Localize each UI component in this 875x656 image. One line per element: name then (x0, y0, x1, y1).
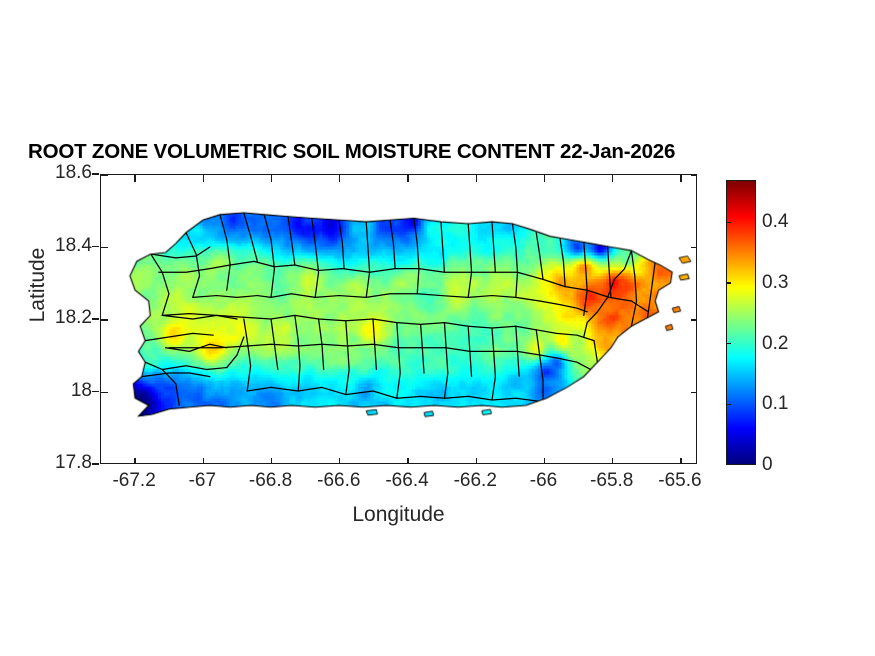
x-tick-label: -65.8 (590, 470, 633, 492)
x-tick-mark (134, 458, 135, 464)
municipality-boundary (591, 369, 649, 383)
colorbar-gradient (727, 181, 755, 464)
x-tick-mark (612, 175, 613, 182)
y-tick-mark (92, 246, 99, 247)
municipality-boundary (339, 220, 344, 269)
municipality-boundary (186, 233, 200, 298)
municipality-boundary (468, 396, 543, 401)
municipality-boundary (162, 366, 227, 370)
y-tick-mark (92, 318, 99, 319)
municipality-boundary (584, 242, 587, 316)
x-tick-label: -66.2 (454, 470, 497, 492)
municipality-boundary (540, 355, 591, 369)
x-tick-label: -66 (530, 470, 557, 492)
municipality-boundary (421, 324, 424, 373)
municipality-boundary (536, 233, 543, 280)
x-tick-mark (407, 458, 408, 464)
municipality-boundary (608, 251, 632, 298)
y-tick-mark-inner (101, 392, 108, 393)
municipality-boundary (159, 265, 230, 272)
municipality-boundary (227, 337, 244, 368)
x-tick-mark (203, 458, 204, 464)
x-tick-labels: -67.2-67-66.8-66.6-66.4-66.2-66-65.8-65.… (100, 470, 697, 496)
x-tick-mark (203, 175, 204, 182)
municipality-boundary (370, 269, 445, 273)
x-tick-label: -65.6 (658, 470, 701, 492)
municipality-boundary (390, 220, 395, 269)
municipality-boundary (492, 222, 495, 272)
municipality-boundary (512, 224, 517, 298)
municipality-boundary (322, 344, 399, 348)
x-tick-mark (476, 458, 477, 464)
municipality-boundary (366, 222, 369, 298)
municipality-boundary (638, 312, 648, 377)
municipality-boundary (492, 328, 495, 400)
municipality-boundary (631, 251, 636, 327)
x-tick-mark (680, 458, 681, 464)
municipality-boundary (414, 218, 419, 294)
colorbar-tick-mark (726, 343, 731, 344)
x-tick-mark (544, 458, 545, 464)
municipality-boundary (295, 315, 300, 391)
municipality-boundary (244, 213, 258, 262)
municipality-boundary (468, 224, 471, 298)
x-tick-mark (612, 458, 613, 464)
colorbar-tick-label: 0.2 (762, 333, 788, 355)
municipality-boundary (145, 333, 213, 340)
x-tick-label: -67 (189, 470, 216, 492)
x-tick-mark (680, 175, 681, 182)
colorbar-tick-labels: 00.10.20.30.4 (762, 180, 822, 465)
colorbar-tick-label: 0.4 (762, 211, 788, 233)
y-tick-mark-inner (101, 319, 108, 320)
x-tick-label: -66.4 (385, 470, 428, 492)
municipality-boundary (230, 261, 295, 266)
y-axis-label: Latitude (26, 225, 50, 345)
colorbar-tick-mark (726, 404, 731, 405)
y-tick-label: 18 (71, 380, 92, 402)
municipality-boundary (220, 215, 230, 291)
municipality-boundary (444, 323, 447, 399)
municipality-boundary (390, 294, 468, 298)
municipality-boundary (618, 337, 625, 380)
map-axes[interactable] (100, 174, 697, 464)
municipality-boundary (169, 346, 247, 348)
colorbar-tick-label: 0.3 (762, 272, 788, 294)
municipality-boundary (540, 301, 588, 312)
municipality-boundary (560, 238, 565, 287)
colorbar-tick-mark (726, 222, 731, 223)
municipality-boundary (244, 319, 251, 391)
y-tick-mark-inner (691, 319, 697, 320)
municipality-boundary (315, 294, 390, 298)
figure-canvas: ROOT ZONE VOLUMETRIC SOIL MOISTURE CONTE… (0, 0, 875, 656)
municipality-boundary (312, 218, 319, 297)
x-tick-mark (339, 175, 340, 182)
municipality-boundary (244, 315, 319, 319)
colorbar-tick-mark (726, 282, 731, 283)
x-axis-label: Longitude (100, 503, 697, 527)
municipality-boundary (152, 247, 210, 258)
municipality-boundary (346, 321, 349, 395)
municipality-boundary (518, 272, 588, 290)
municipality-boundary (397, 323, 468, 327)
municipality-boundary (149, 251, 169, 316)
page-title: ROOT ZONE VOLUMETRIC SOIL MOISTURE CONTE… (28, 140, 675, 164)
municipality-boundary (142, 373, 210, 377)
municipality-boundary (399, 348, 470, 352)
y-tick-label: 18.6 (55, 162, 92, 184)
municipality-boundary (257, 294, 315, 298)
x-tick-mark (134, 175, 135, 182)
y-tick-mark-inner (691, 392, 697, 393)
x-tick-mark (476, 175, 477, 182)
municipality-boundary (397, 323, 400, 399)
x-tick-label: -67.2 (112, 470, 155, 492)
y-tick-label: 17.8 (55, 452, 92, 474)
municipality-boundary (264, 215, 274, 298)
y-tick-label: 18.4 (55, 235, 92, 257)
municipality-boundary (584, 297, 608, 337)
y-tick-mark (92, 173, 99, 174)
x-tick-label: -66.6 (317, 470, 360, 492)
y-tick-mark-inner (101, 174, 108, 175)
x-tick-label: -66.8 (249, 470, 292, 492)
municipality-boundary (594, 341, 601, 384)
y-tick-mark (92, 391, 99, 392)
colorbar-tick-label: 0.1 (762, 393, 788, 415)
municipality-boundary (193, 296, 258, 298)
municipality-boundary (468, 296, 539, 301)
municipality-boundary (319, 319, 397, 323)
x-tick-mark (544, 175, 545, 182)
municipality-boundary (322, 387, 397, 398)
x-tick-mark (407, 175, 408, 182)
x-tick-mark (271, 458, 272, 464)
y-tick-mark-inner (691, 247, 697, 248)
municipality-boundary (648, 261, 655, 311)
municipality-boundary (470, 351, 540, 355)
municipality-boundary (587, 290, 648, 312)
municipality-boundary (397, 396, 468, 398)
municipality-boundaries-overlay (101, 175, 696, 463)
y-tick-label: 18.2 (55, 307, 92, 329)
y-tick-mark-inner (101, 247, 108, 248)
colorbar-tick-label: 0 (762, 454, 773, 476)
municipality-boundary (288, 216, 295, 265)
x-tick-mark (271, 175, 272, 182)
x-tick-mark (339, 458, 340, 464)
y-tick-mark (92, 463, 99, 464)
y-tick-mark-inner (691, 174, 697, 175)
municipality-boundary (247, 387, 322, 391)
municipality-boundary (145, 362, 179, 405)
municipality-boundary (536, 330, 543, 402)
municipality-boundary (441, 222, 444, 272)
municipality-boundary (468, 326, 536, 330)
municipality-boundary (295, 265, 370, 272)
municipality-boundary (247, 344, 322, 346)
